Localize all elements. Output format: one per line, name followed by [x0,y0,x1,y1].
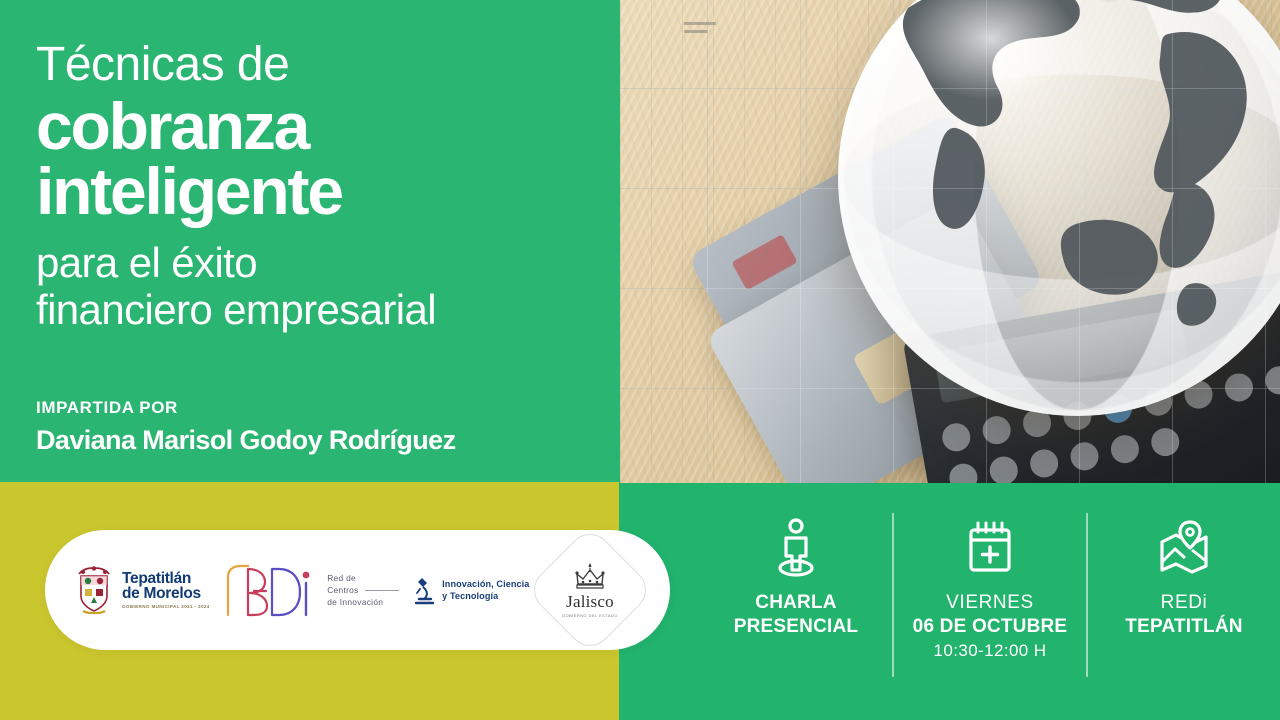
redi-line-2: Centros [327,584,398,596]
headline-line-2: cobranza [36,94,596,159]
headline-line-1: Técnicas de [36,40,596,90]
logo-innovacion-ciencia-tecnologia: Innovación, Ciencia y Tecnología [413,575,529,605]
innovacion-line-1: Innovación, Ciencia [442,578,529,590]
redi-line-1: Red de [327,572,398,584]
globe-photo [620,0,1280,483]
jalisco-wordmark: Jalisco [562,593,618,610]
redi-line-2-text: Centros [327,585,358,595]
redi-wordmark-icon [224,561,316,619]
card-logo-stripe [731,234,797,290]
tepatitlan-line-3: GOBIERNO MUNICIPAL 2021 - 2024 [122,605,210,610]
event-details-strip: CHARLA PRESENCIAL VIERNES 06 DE OCTUBRE … [700,505,1280,705]
detail-modality: CHARLA PRESENCIAL [700,505,892,640]
speaker-kicker: IMPARTIDA POR [36,398,455,418]
detail-date-text: VIERNES 06 DE OCTUBRE 10:30-12:00 H [913,591,1068,661]
speaker-name: Daviana Marisol Godoy Rodríguez [36,425,455,456]
detail-modality-text: CHARLA PRESENCIAL [734,591,858,640]
tepatitlan-line-1: Tepatitlán [122,571,210,587]
crown-icon [573,562,607,592]
paper-marks [684,22,724,42]
logo-redi: Red de Centros de Innovación [224,561,398,619]
presenter-person-icon [774,515,818,581]
innovacion-wordmark: Innovación, Ciencia y Tecnología [442,578,529,602]
jalisco-subtitle: GOBIERNO DEL ESTADO [562,613,618,618]
headline-line-4: para el éxito [36,239,596,286]
speaker-block: IMPARTIDA POR Daviana Marisol Godoy Rodr… [36,398,455,456]
coat-of-arms-icon [75,566,113,614]
headline-block: Técnicas de cobranza inteligente para el… [36,40,596,333]
redi-rule [365,590,399,591]
detail-date: VIERNES 06 DE OCTUBRE 10:30-12:00 H [894,505,1086,661]
glass-globe [838,0,1280,416]
detail-date-line-2: 06 DE OCTUBRE [913,615,1068,639]
redi-wordmark-text: Red de Centros de Innovación [327,572,398,609]
detail-venue-line-2: TEPATITLÁN [1125,615,1242,639]
detail-venue-text: REDi TEPATITLÁN [1125,591,1242,640]
calendar-plus-icon [966,515,1014,581]
logo-jalisco: Jalisco GOBIERNO DEL ESTADO [544,544,636,636]
microscope-icon [413,575,435,605]
tepatitlan-line-2: de Morelos [122,586,210,602]
logo-tepatitlan-de-morelos: Tepatitlán de Morelos GOBIERNO MUNICIPAL… [75,566,210,614]
headline-line-3: inteligente [36,159,596,224]
detail-venue: REDi TEPATITLÁN [1088,505,1280,640]
event-poster: Técnicas de cobranza inteligente para el… [0,0,1280,720]
detail-modality-line-2: PRESENCIAL [734,615,858,639]
detail-venue-line-1: REDi [1125,591,1242,615]
tepatitlan-wordmark: Tepatitlán de Morelos GOBIERNO MUNICIPAL… [122,571,210,610]
detail-modality-line-1: CHARLA [734,591,858,615]
headline-line-5: financiero empresarial [36,286,596,333]
map-pin-icon [1158,515,1210,581]
detail-date-line-3: 10:30-12:00 H [913,640,1068,662]
sponsor-logo-card: Tepatitlán de Morelos GOBIERNO MUNICIPAL… [45,530,670,650]
detail-date-line-1: VIERNES [913,591,1068,615]
redi-line-3: de Innovación [327,596,398,608]
innovacion-line-2: y Tecnología [442,590,529,602]
